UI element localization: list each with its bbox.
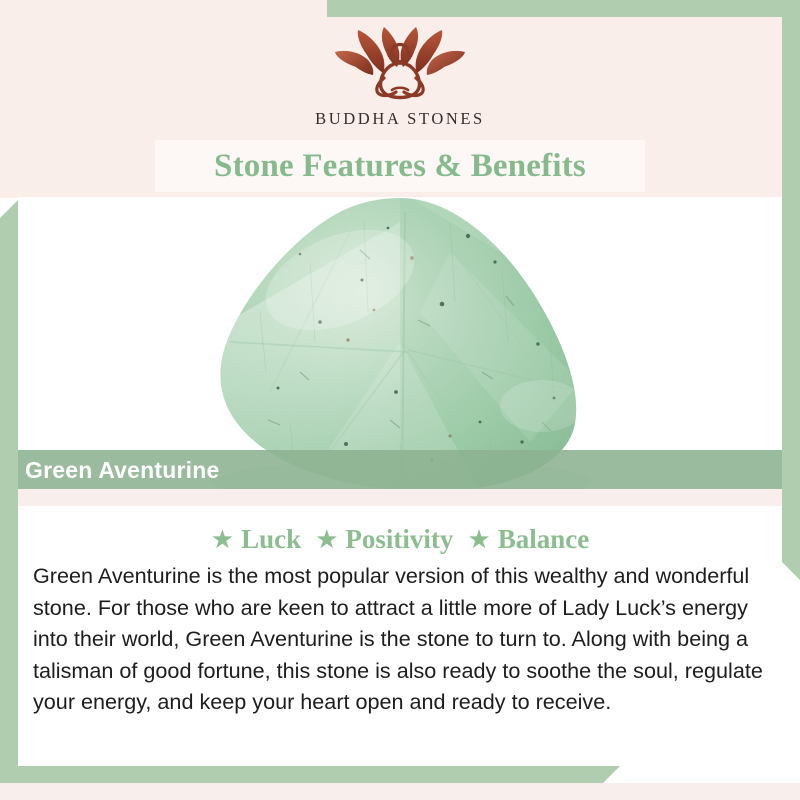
- background-panel-bottom: [0, 783, 800, 800]
- star-icon: ★: [315, 526, 338, 552]
- frame-strip-right: [782, 0, 800, 580]
- benefit-label: Positivity: [345, 524, 453, 555]
- benefits-row: ★ Luck ★ Positivity ★ Balance: [18, 518, 782, 560]
- benefit-label: Luck: [241, 524, 301, 555]
- lotus-meditation-icon: [326, 22, 474, 106]
- stone-photo: [18, 197, 782, 489]
- infographic-page: BUDDHA STONES Stone Features & Benefits: [0, 0, 800, 800]
- brand-logo: BUDDHA STONES: [0, 22, 800, 140]
- title-banner: Stone Features & Benefits: [155, 140, 645, 192]
- background-panel-divider: [0, 489, 800, 506]
- stone-description: Green Aventurine is the most popular ver…: [33, 560, 773, 718]
- green-aventurine-stone-image: [150, 197, 650, 489]
- frame-strip-bottom: [0, 766, 620, 783]
- frame-strip-left: [0, 200, 18, 800]
- stone-name: Green Aventurine: [25, 457, 220, 484]
- star-icon: ★: [211, 526, 234, 552]
- benefit-label: Balance: [498, 524, 590, 555]
- stone-name-band: Green Aventurine: [0, 450, 800, 490]
- benefit-item: ★ Luck: [211, 524, 301, 555]
- benefit-item: ★ Balance: [467, 524, 589, 555]
- page-title: Stone Features & Benefits: [214, 148, 586, 185]
- frame-strip-top: [327, 0, 800, 17]
- brand-name: BUDDHA STONES: [315, 109, 485, 129]
- star-icon: ★: [467, 526, 490, 552]
- benefit-item: ★ Positivity: [315, 524, 453, 555]
